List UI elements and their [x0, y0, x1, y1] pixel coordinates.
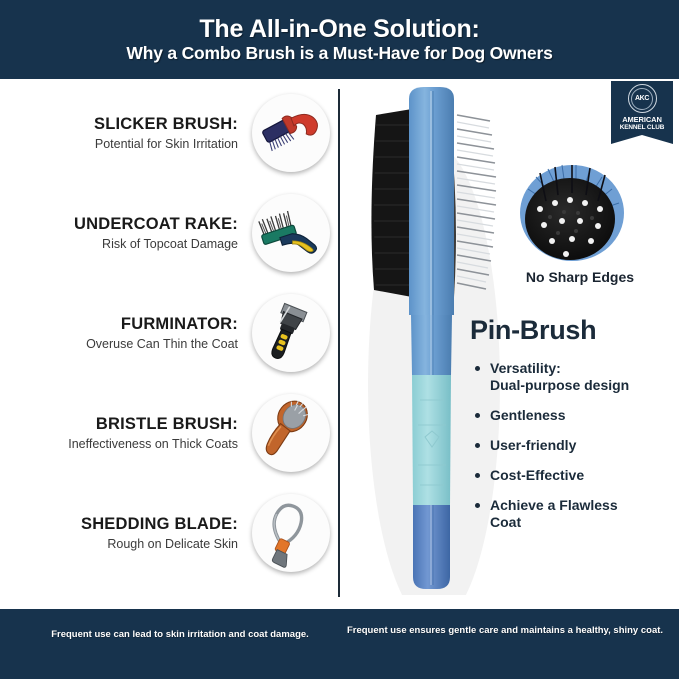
list-item[interactable]: SHEDDING BLADE: Rough on Delicate Skin	[0, 483, 330, 583]
header-banner: The All-in-One Solution: Why a Combo Bru…	[0, 0, 679, 79]
akc-seal-text: AKC	[635, 95, 649, 102]
brush-name: SHEDDING BLADE:	[23, 515, 238, 534]
benefit-item: User-friendly	[474, 437, 674, 454]
brush-name: SLICKER BRUSH:	[23, 115, 238, 134]
brush-text-block: FURMINATOR: Overuse Can Thin the Coat	[23, 315, 252, 351]
infographic-poster: The All-in-One Solution: Why a Combo Bru…	[0, 0, 679, 679]
header-subtitle: Why a Combo Brush is a Must-Have for Dog…	[126, 44, 552, 62]
list-item[interactable]: FURMINATOR: Overuse Can Thin the Coat	[0, 283, 330, 383]
akc-seal-icon: AKC	[628, 84, 657, 113]
closeup-caption: No Sharp Edges	[500, 269, 660, 285]
bristle-brush-icon	[252, 394, 330, 472]
brush-issue: Ineffectiveness on Thick Coats	[23, 437, 238, 451]
brush-name: FURMINATOR:	[23, 315, 238, 334]
footer-benefit-text: Frequent use ensures gentle care and mai…	[345, 625, 665, 638]
brush-text-block: SHEDDING BLADE: Rough on Delicate Skin	[23, 515, 252, 551]
brush-name: BRISTLE BRUSH:	[23, 415, 238, 434]
benefit-item: Versatility:Dual-purpose design	[474, 360, 674, 394]
benefit-item: Achieve a FlawlessCoat	[474, 497, 674, 531]
list-item[interactable]: SLICKER BRUSH: Potential for Skin Irrita…	[0, 83, 330, 183]
akc-logo-badge: AKC AMERICAN KENNEL CLUB	[611, 81, 673, 135]
brush-issue: Risk of Topcoat Damage	[23, 237, 238, 251]
problem-brush-list: SLICKER BRUSH: Potential for Skin Irrita…	[0, 79, 338, 609]
pin-tip-closeup-icon	[506, 151, 636, 276]
slicker-brush-icon	[252, 94, 330, 172]
shedding-blade-icon	[252, 494, 330, 572]
solution-panel: AKC AMERICAN KENNEL CLUB	[340, 79, 679, 609]
footer-warning-text: Frequent use can lead to skin irritation…	[20, 629, 340, 642]
footer-banner: Frequent use can lead to skin irritation…	[0, 609, 679, 679]
brush-name: UNDERCOAT RAKE:	[23, 215, 238, 234]
badge-notch	[611, 135, 673, 144]
akc-name-line2: KENNEL CLUB	[620, 125, 665, 131]
furminator-icon	[252, 294, 330, 372]
benefits-list: Versatility:Dual-purpose design Gentlene…	[474, 360, 674, 545]
product-title: Pin-Brush	[470, 317, 596, 344]
list-item[interactable]: BRISTLE BRUSH: Ineffectiveness on Thick …	[0, 383, 330, 483]
brush-issue: Potential for Skin Irritation	[23, 137, 238, 151]
body-area: SLICKER BRUSH: Potential for Skin Irrita…	[0, 79, 679, 609]
brush-text-block: UNDERCOAT RAKE: Risk of Topcoat Damage	[23, 215, 252, 251]
benefit-item: Cost-Effective	[474, 467, 674, 484]
brush-text-block: BRISTLE BRUSH: Ineffectiveness on Thick …	[23, 415, 252, 451]
benefit-item: Gentleness	[474, 407, 674, 424]
undercoat-rake-icon	[252, 194, 330, 272]
brush-issue: Overuse Can Thin the Coat	[23, 337, 238, 351]
brush-issue: Rough on Delicate Skin	[23, 537, 238, 551]
akc-logo-inner: AKC AMERICAN KENNEL CLUB	[611, 81, 673, 135]
header-title: The All-in-One Solution:	[199, 16, 479, 42]
brush-text-block: SLICKER BRUSH: Potential for Skin Irrita…	[23, 115, 252, 151]
akc-name-line1: AMERICAN	[622, 116, 662, 124]
list-item[interactable]: UNDERCOAT RAKE: Risk of Topcoat Damage	[0, 183, 330, 283]
